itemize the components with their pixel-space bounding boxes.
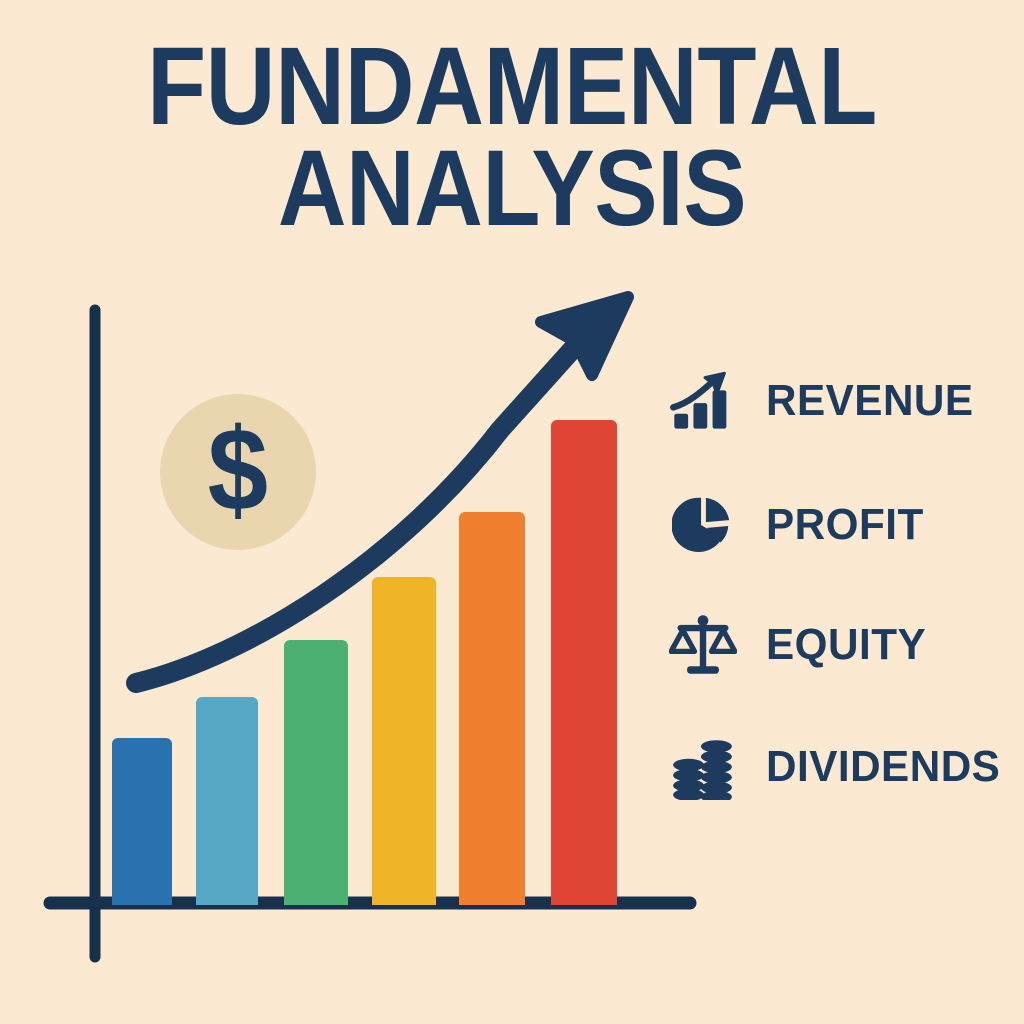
- fundamental-analysis-infographic: FUNDAMENTAL ANALYSIS $: [0, 0, 1024, 1024]
- coin-stacks-icon: [666, 730, 740, 804]
- legend-item-dividends[interactable]: DIVIDENDS: [666, 730, 1010, 804]
- legend-label-revenue: REVENUE: [766, 376, 974, 426]
- pie-chart-icon: [666, 488, 740, 562]
- legend-item-revenue[interactable]: REVENUE: [666, 364, 982, 438]
- bar-chart-growth-icon: [666, 364, 740, 438]
- legend-item-profit[interactable]: PROFIT: [666, 488, 930, 562]
- dollar-sign-glyph: $: [208, 411, 268, 529]
- legend-label-profit: PROFIT: [766, 500, 924, 550]
- legend-item-equity[interactable]: EQUITY: [666, 608, 933, 682]
- balance-scales-icon: [666, 608, 740, 682]
- dollar-circle-icon: $: [160, 394, 316, 550]
- legend-label-equity: EQUITY: [766, 620, 926, 670]
- legend-label-dividends: DIVIDENDS: [766, 742, 1000, 792]
